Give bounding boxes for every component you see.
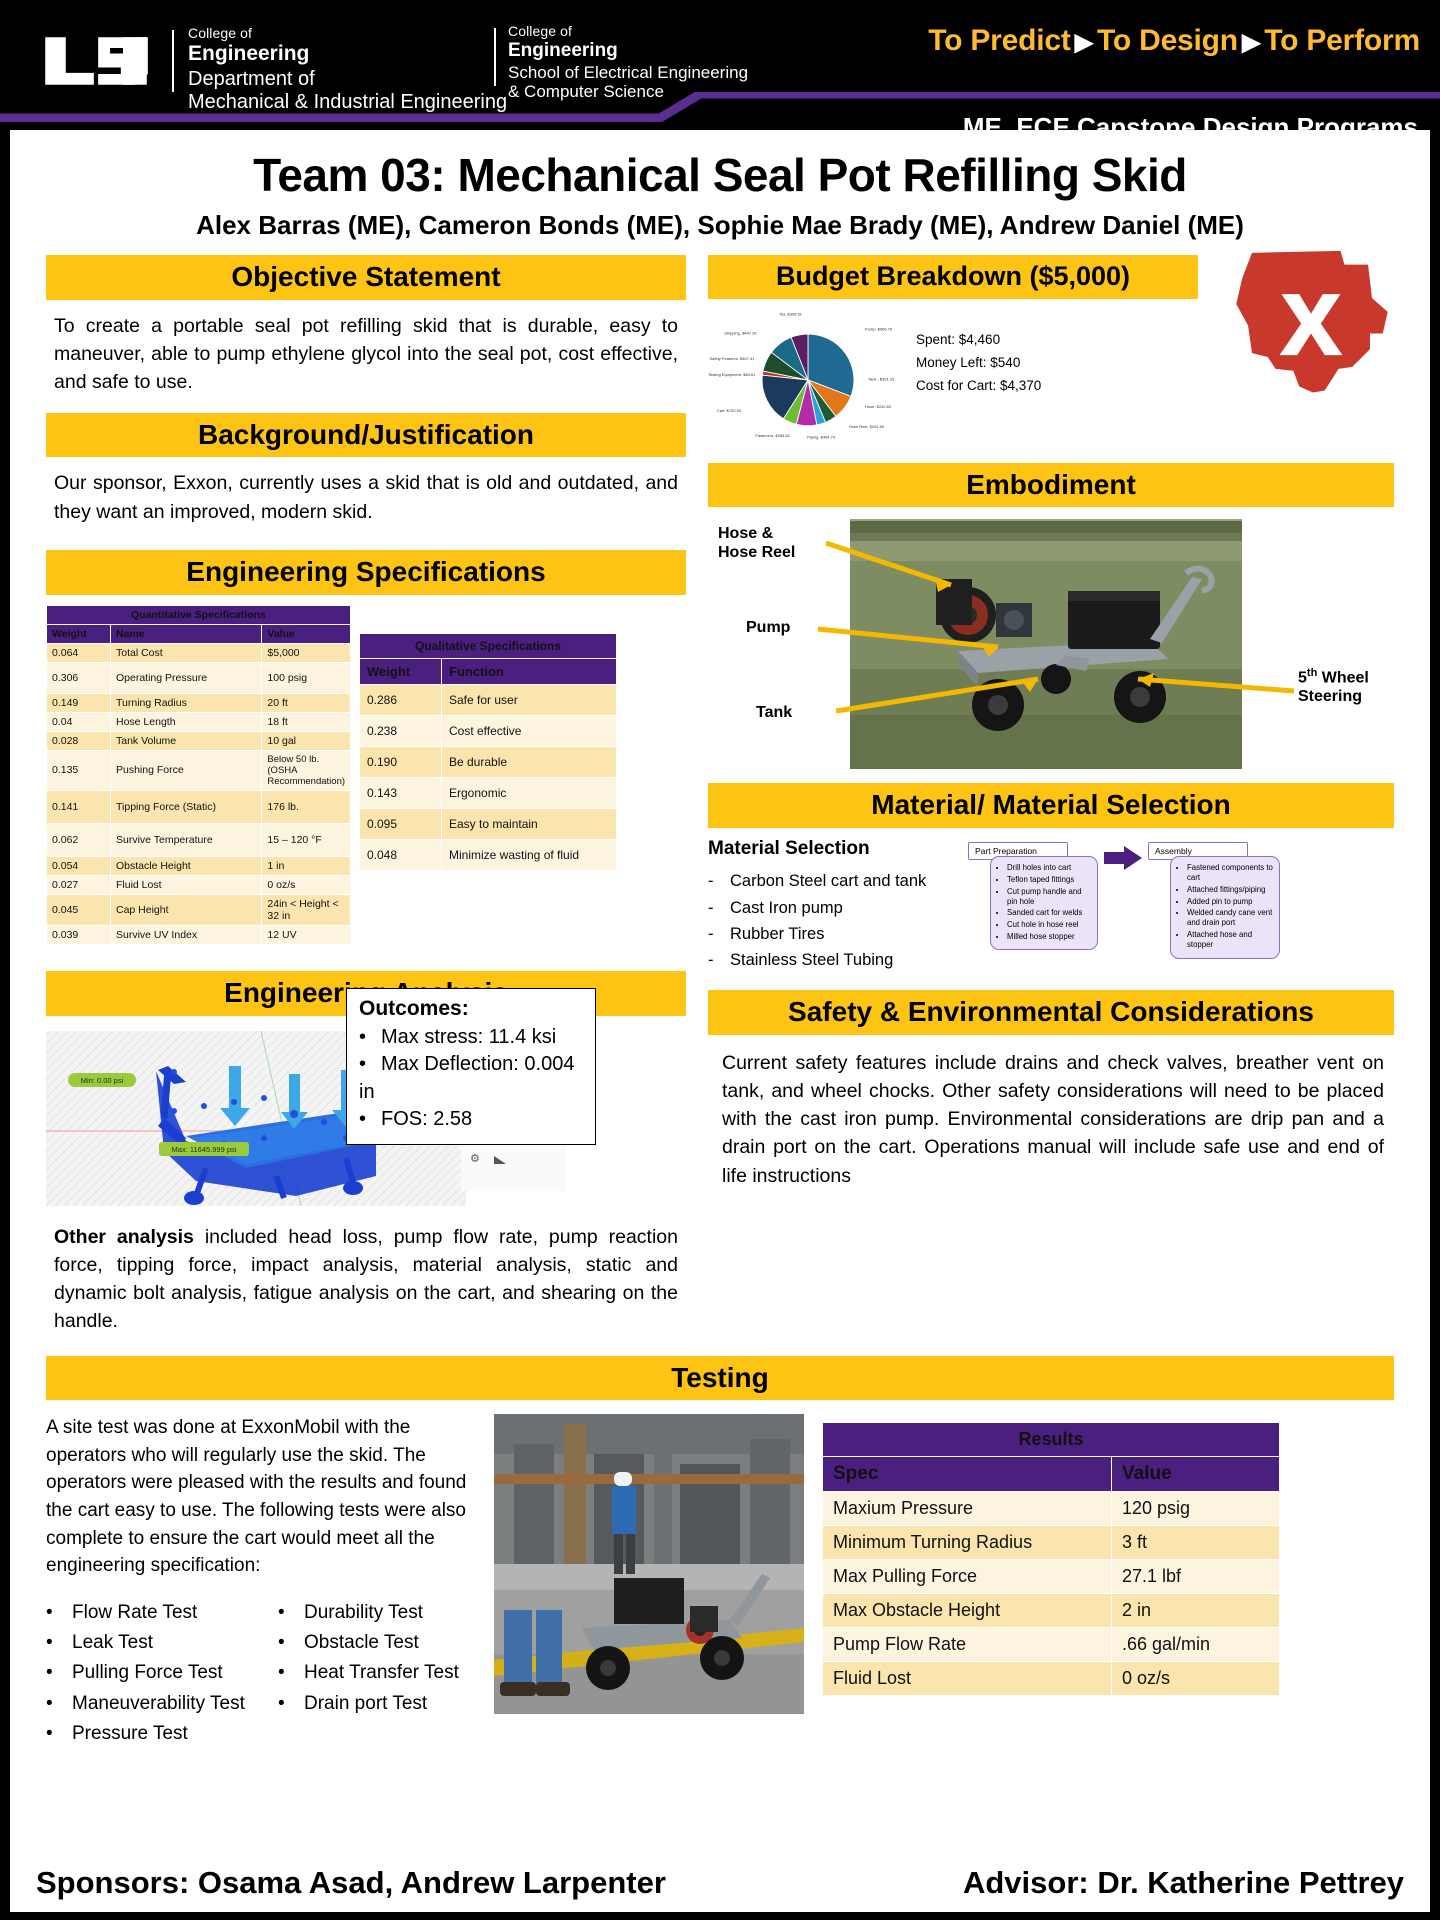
table-row: 0.306Operating Pressure100 psig <box>47 662 351 693</box>
table-row: 0.045Cap Height24in < Height < 32 in <box>47 894 351 925</box>
cell-value: 24in < Height < 32 in <box>262 894 351 925</box>
list-item: Carbon Steel cart and tank <box>708 868 958 894</box>
table-row: 0.028Tank Volume10 gal <box>47 731 351 750</box>
cell-weight: 0.286 <box>360 684 442 715</box>
quantitative-specs-table: Quantitative Specifications Weight Name … <box>46 605 351 945</box>
dept1-school: Engineering <box>188 42 507 66</box>
table-row: 0.095Easy to maintain <box>360 808 617 839</box>
cell-value: 1 in <box>262 856 351 875</box>
cell-weight: 0.149 <box>47 693 111 712</box>
pie-label-testing-equipment: Testing Equipment, $80.61 <box>708 372 756 377</box>
list-item: Drill holes into cart <box>1007 863 1091 873</box>
results-title: Results <box>823 1423 1280 1457</box>
page-header: College of Engineering Department of Mec… <box>0 0 1440 148</box>
cell-weight: 0.064 <box>47 643 111 662</box>
list-item: Added pin to pump <box>1187 897 1273 907</box>
outcomes-list: Max stress: 11.4 ksi Max Deflection: 0.0… <box>359 1024 583 1134</box>
budget-pie-chart: Pump, $966.76 Tank , $391.33 Hose, $242.… <box>708 299 908 449</box>
list-item: Leak Test <box>46 1628 258 1658</box>
cell-value: 3 ft <box>1112 1526 1280 1560</box>
results-col-spec: Spec <box>823 1457 1112 1492</box>
background-heading: Background/Justification <box>46 413 686 458</box>
dept1-line1: Department of <box>188 68 507 90</box>
label-hose-line2: Hose Reel <box>718 544 795 562</box>
quant-col-name: Name <box>111 624 262 643</box>
left-column: Objective Statement To create a portable… <box>46 255 686 1336</box>
advisor-text: Advisor: Dr. Katherine Pettrey <box>963 1865 1404 1901</box>
material-list-block: Material Selection Carbon Steel cart and… <box>708 838 958 974</box>
table-row: 0.062Survive Temperature15 – 120 °F <box>47 823 351 856</box>
cell-value: Below 50 lb. (OSHA Recommendation) <box>262 750 351 790</box>
list-item: Flow Rate Test <box>46 1598 258 1628</box>
list-item: Attached hose and stopper <box>1187 930 1273 950</box>
quant-table-title: Quantitative Specifications <box>47 605 351 624</box>
cell-weight: 0.306 <box>47 662 111 693</box>
material-selection-block: Material Selection Carbon Steel cart and… <box>708 838 1394 974</box>
cell-name: Pushing Force <box>111 750 262 790</box>
cell-value: 176 lb. <box>262 790 351 823</box>
cell-value: 27.1 lbf <box>1112 1560 1280 1594</box>
tagline: To Predict▶To Design▶To Perform <box>928 24 1420 58</box>
dept1-college: College of <box>188 26 507 42</box>
cell-function: Easy to maintain <box>442 808 617 839</box>
list-item: Max Deflection: 0.004 in <box>359 1051 583 1106</box>
embodiment-heading: Embodiment <box>708 463 1394 508</box>
cell-weight: 0.028 <box>47 731 111 750</box>
other-analysis-bold: Other analysis <box>54 1226 194 1248</box>
testing-section: Testing <box>10 1356 1430 1401</box>
cell-value: 0 oz/s <box>1112 1662 1280 1696</box>
tagline-predict: To Predict <box>928 24 1070 57</box>
cell-function: Be durable <box>442 746 617 777</box>
testing-bullets-left: Flow Rate Test Leak Test Pulling Force T… <box>46 1598 258 1750</box>
outcomes-callout-box: Outcomes: Max stress: 11.4 ksi Max Defle… <box>346 988 596 1145</box>
svg-text:⚙: ⚙ <box>470 1153 480 1165</box>
cell-spec: Maxium Pressure <box>823 1492 1112 1526</box>
table-row: 0.039Survive UV Index12 UV <box>47 925 351 944</box>
cell-value: 18 ft <box>262 712 351 731</box>
label-wheel-num: 5 <box>1298 670 1307 687</box>
list-item: Cut hole in hose reel <box>1007 920 1091 930</box>
list-item: Cut pump handle and pin hole <box>1007 887 1091 907</box>
cell-spec: Fluid Lost <box>823 1662 1112 1696</box>
arrow-right-icon: ▶ <box>1071 29 1097 56</box>
testing-text-block: A site test was done at ExxonMobil with … <box>46 1414 476 1749</box>
quant-col-value: Value <box>262 624 351 643</box>
list-item: Max stress: 11.4 ksi <box>359 1024 583 1052</box>
qual-col-weight: Weight <box>360 658 442 684</box>
budget-cart-cost: Cost for Cart: $4,370 <box>916 375 1041 398</box>
testing-bullets-right: Durability Test Obstacle Test Heat Trans… <box>278 1598 459 1750</box>
budget-content: Pump, $966.76 Tank , $391.33 Hose, $242.… <box>708 299 1198 449</box>
table-row: 0.286Safe for user <box>360 684 617 715</box>
cell-name: Survive Temperature <box>111 823 262 856</box>
label-fifth-wheel-steering: 5th Wheel Steering <box>1298 667 1369 706</box>
cell-function: Ergonomic <box>442 777 617 808</box>
cell-value: 2 in <box>1112 1594 1280 1628</box>
label-pump: Pump <box>746 619 790 637</box>
cell-name: Turning Radius <box>111 693 262 712</box>
cell-weight: 0.04 <box>47 712 111 731</box>
pie-label-tank: Tank , $391.33 <box>868 376 895 381</box>
cell-function: Safe for user <box>442 684 617 715</box>
pie-label-hose-reel: Hose Reel, $201.60 <box>849 424 885 429</box>
table-row: Maxium Pressure120 psig <box>823 1492 1280 1526</box>
cart-photo <box>850 519 1242 769</box>
table-row: Fluid Lost0 oz/s <box>823 1662 1280 1696</box>
pie-label-shipping: Shipping, $447.29 <box>724 330 757 335</box>
table-row: 0.143Ergonomic <box>360 777 617 808</box>
testing-bullet-lists: Flow Rate Test Leak Test Pulling Force T… <box>46 1598 476 1750</box>
cell-weight: 0.039 <box>47 925 111 944</box>
list-item: Drain port Test <box>278 1689 459 1719</box>
cell-value: 120 psig <box>1112 1492 1280 1526</box>
cell-name: Cap Height <box>111 894 262 925</box>
dept-ece-block: College of Engineering School of Electri… <box>508 24 748 101</box>
list-item: Fastened components to cart <box>1187 863 1273 883</box>
list-item: Stainless Steel Tubing <box>708 947 958 973</box>
cell-value: 0 oz/s <box>262 875 351 894</box>
budget-block: Budget Breakdown ($5,000) <box>708 255 1198 449</box>
flow-body-part-prep: Drill holes into cart Teflon taped fitti… <box>990 856 1098 950</box>
cell-spec: Max Pulling Force <box>823 1560 1112 1594</box>
background-text: Our sponsor, Exxon, currently uses a ski… <box>54 469 678 526</box>
poster-footer: Sponsors: Osama Asad, Andrew Larpenter A… <box>10 1854 1430 1912</box>
arrow-right-icon-2: ▶ <box>1238 29 1264 56</box>
tagline-perform: To Perform <box>1264 24 1420 57</box>
cell-weight: 0.190 <box>360 746 442 777</box>
fea-min-text: Min: 0.00 psi <box>81 1076 124 1085</box>
cell-name: Operating Pressure <box>111 662 262 693</box>
quant-header-row: Weight Name Value <box>47 624 351 643</box>
cell-name: Survive UV Index <box>111 925 262 944</box>
qual-header-row: Weight Function <box>360 658 617 684</box>
label-wheel-word: Wheel <box>1317 670 1369 687</box>
cell-weight: 0.062 <box>47 823 111 856</box>
list-item: Sanded cart for welds <box>1007 908 1091 918</box>
table-row: 0.141Tipping Force (Static)176 lb. <box>47 790 351 823</box>
list-item: Maneuverability Test <box>46 1689 258 1719</box>
label-hose-reel: Hose & Hose Reel <box>718 525 795 562</box>
poster-canvas: Team 03: Mechanical Seal Pot Refilling S… <box>10 130 1430 1912</box>
table-row: 0.238Cost effective <box>360 715 617 746</box>
cell-name: Fluid Lost <box>111 875 262 894</box>
outcomes-title: Outcomes: <box>359 997 583 1021</box>
louisiana-exxon-logo-icon <box>1222 243 1400 418</box>
other-analysis-paragraph: Other analysis included head loss, pump … <box>54 1223 678 1336</box>
list-item: Obstacle Test <box>278 1628 459 1658</box>
header-divider-2 <box>494 28 496 86</box>
cell-weight: 0.143 <box>360 777 442 808</box>
author-list: Alex Barras (ME), Cameron Bonds (ME), So… <box>10 210 1430 241</box>
list-item: Milled hose stopper <box>1007 932 1091 942</box>
pie-label-hose: Hose, $242.60 <box>865 404 892 409</box>
cell-weight: 0.045 <box>47 894 111 925</box>
embodiment-figure: Hose & Hose Reel Pump Tank 5th Wheel Ste… <box>708 519 1394 777</box>
table-row: Max Pulling Force27.1 lbf <box>823 1560 1280 1594</box>
qual-table-title: Qualitative Specifications <box>360 633 617 658</box>
label-tank: Tank <box>756 704 792 722</box>
label-wheel-ord: th <box>1307 667 1317 679</box>
cell-name: Tank Volume <box>111 731 262 750</box>
list-item: Pulling Force Test <box>46 1658 258 1688</box>
quant-col-weight: Weight <box>47 624 111 643</box>
table-row: 0.190Be durable <box>360 746 617 777</box>
header-divider-1 <box>172 30 174 92</box>
cell-function: Cost effective <box>442 715 617 746</box>
results-col-value: Value <box>1112 1457 1280 1492</box>
list-item: Heat Transfer Test <box>278 1658 459 1688</box>
cell-name: Total Cost <box>111 643 262 662</box>
cell-function: Minimize wasting of fluid <box>442 839 617 870</box>
specs-heading: Engineering Specifications <box>46 550 686 595</box>
dept2-line1: School of Electrical Engineering <box>508 63 748 82</box>
cell-weight: 0.141 <box>47 790 111 823</box>
cell-name: Tipping Force (Static) <box>111 790 262 823</box>
site-test-photo <box>494 1414 804 1749</box>
flow-assembly: Assembly Fastened components to cart Att… <box>1148 842 1280 959</box>
material-heading: Material/ Material Selection <box>708 783 1394 828</box>
cell-value: 10 gal <box>262 731 351 750</box>
table-row: 0.04Hose Length18 ft <box>47 712 351 731</box>
label-wheel-line1: 5th Wheel <box>1298 667 1369 688</box>
list-item: Teflon taped fittings <box>1007 875 1091 885</box>
cell-value: $5,000 <box>262 643 351 662</box>
cell-spec: Pump Flow Rate <box>823 1628 1112 1662</box>
cell-weight: 0.027 <box>47 875 111 894</box>
label-wheel-line2: Steering <box>1298 688 1369 706</box>
table-row: Pump Flow Rate.66 gal/min <box>823 1628 1280 1662</box>
objective-text: To create a portable seal pot refilling … <box>54 312 678 397</box>
testing-columns: A site test was done at ExxonMobil with … <box>10 1414 1430 1749</box>
material-list: Carbon Steel cart and tank Cast Iron pum… <box>708 868 958 974</box>
cell-spec: Max Obstacle Height <box>823 1594 1112 1628</box>
sponsors-text: Sponsors: Osama Asad, Andrew Larpenter <box>36 1865 666 1901</box>
cell-value: 12 UV <box>262 925 351 944</box>
material-subheading: Material Selection <box>708 838 958 860</box>
tagline-design: To Design <box>1097 24 1238 57</box>
testing-paragraph: A site test was done at ExxonMobil with … <box>46 1414 476 1579</box>
list-item: FOS: 2.58 <box>359 1106 583 1134</box>
cell-weight: 0.054 <box>47 856 111 875</box>
fea-analysis-figure: Min: 0.00 psi Max: 11645.999 psi ! Load … <box>46 1026 686 1211</box>
label-hose-line1: Hose & <box>718 525 795 543</box>
pie-chart-svg: Pump, $966.76 Tank , $391.33 Hose, $242.… <box>708 299 908 449</box>
qualitative-specs-table: Qualitative Specifications Weight Functi… <box>359 633 617 871</box>
cell-weight: 0.048 <box>360 839 442 870</box>
safety-text: Current safety features include drains a… <box>722 1049 1384 1190</box>
cell-name: Hose Length <box>111 712 262 731</box>
table-row: 0.064Total Cost$5,000 <box>47 643 351 662</box>
list-item: Cast Iron pump <box>708 895 958 921</box>
cell-value: 15 – 120 °F <box>262 823 351 856</box>
list-item: Welded candy cane vent and drain port <box>1187 908 1273 928</box>
budget-and-seal-row: Budget Breakdown ($5,000) <box>708 255 1394 449</box>
testing-heading: Testing <box>46 1356 1394 1401</box>
process-flow-diagram: Part Preparation Drill holes into cart T… <box>968 838 1280 974</box>
dept2-school: Engineering <box>508 40 748 61</box>
table-row: Minimum Turning Radius3 ft <box>823 1526 1280 1560</box>
table-row: 0.054Obstacle Height1 in <box>47 856 351 875</box>
flow-body-assembly: Fastened components to cart Attached fit… <box>1170 856 1280 959</box>
qual-col-function: Function <box>442 658 617 684</box>
table-row: 0.027Fluid Lost0 oz/s <box>47 875 351 894</box>
table-row: 0.149Turning Radius20 ft <box>47 693 351 712</box>
cell-value: 20 ft <box>262 693 351 712</box>
flow-part-preparation: Part Preparation Drill holes into cart T… <box>968 842 1098 950</box>
fea-max-text: Max: 11645.999 psi <box>172 1145 237 1154</box>
dept2-college: College of <box>508 24 748 40</box>
arrow-right-icon-flow <box>1104 846 1142 870</box>
right-column: Budget Breakdown ($5,000) <box>708 255 1394 1336</box>
table-row: 0.048Minimize wasting of fluid <box>360 839 617 870</box>
page-title: Team 03: Mechanical Seal Pot Refilling S… <box>10 148 1430 202</box>
pie-label-piping: Piping, $464.70 <box>807 434 836 439</box>
safety-heading: Safety & Environmental Considerations <box>708 990 1394 1035</box>
table-row: 0.135Pushing ForceBelow 50 lb. (OSHA Rec… <box>47 750 351 790</box>
table-row: Max Obstacle Height2 in <box>823 1594 1280 1628</box>
pie-label-cart: Cart, $752.53 <box>717 407 742 412</box>
objective-heading: Objective Statement <box>46 255 686 300</box>
cell-name: Obstacle Height <box>111 856 262 875</box>
list-item: Durability Test <box>278 1598 459 1628</box>
main-columns: Objective Statement To create a portable… <box>10 255 1430 1336</box>
specs-tables-row: Quantitative Specifications Weight Name … <box>46 605 686 945</box>
pie-label-fasteners: Fasteners, $284.82 <box>755 433 790 438</box>
budget-heading: Budget Breakdown ($5,000) <box>708 255 1198 299</box>
cell-value: 100 psig <box>262 662 351 693</box>
cell-weight: 0.095 <box>360 808 442 839</box>
pie-label-pump: Pump, $966.76 <box>865 326 893 331</box>
cell-value: .66 gal/min <box>1112 1628 1280 1662</box>
lsu-logo-icon <box>42 33 150 89</box>
cell-weight: 0.238 <box>360 715 442 746</box>
budget-notes: Spent: $4,460 Money Left: $540 Cost for … <box>908 299 1041 398</box>
pie-label-tax: Tax, $308.51 <box>779 311 803 316</box>
budget-spent: Spent: $4,460 <box>916 329 1041 352</box>
pie-label-safety-features: Safety Features, $307.41 <box>709 356 755 361</box>
cell-spec: Minimum Turning Radius <box>823 1526 1112 1560</box>
results-header-row: Spec Value <box>823 1457 1280 1492</box>
cell-weight: 0.135 <box>47 750 111 790</box>
budget-money-left: Money Left: $540 <box>916 352 1041 375</box>
list-item: Attached fittings/piping <box>1187 885 1273 895</box>
list-item: Rubber Tires <box>708 921 958 947</box>
list-item: Pressure Test <box>46 1719 258 1749</box>
results-table: Results Spec Value Maxium Pressure120 ps… <box>822 1422 1280 1696</box>
